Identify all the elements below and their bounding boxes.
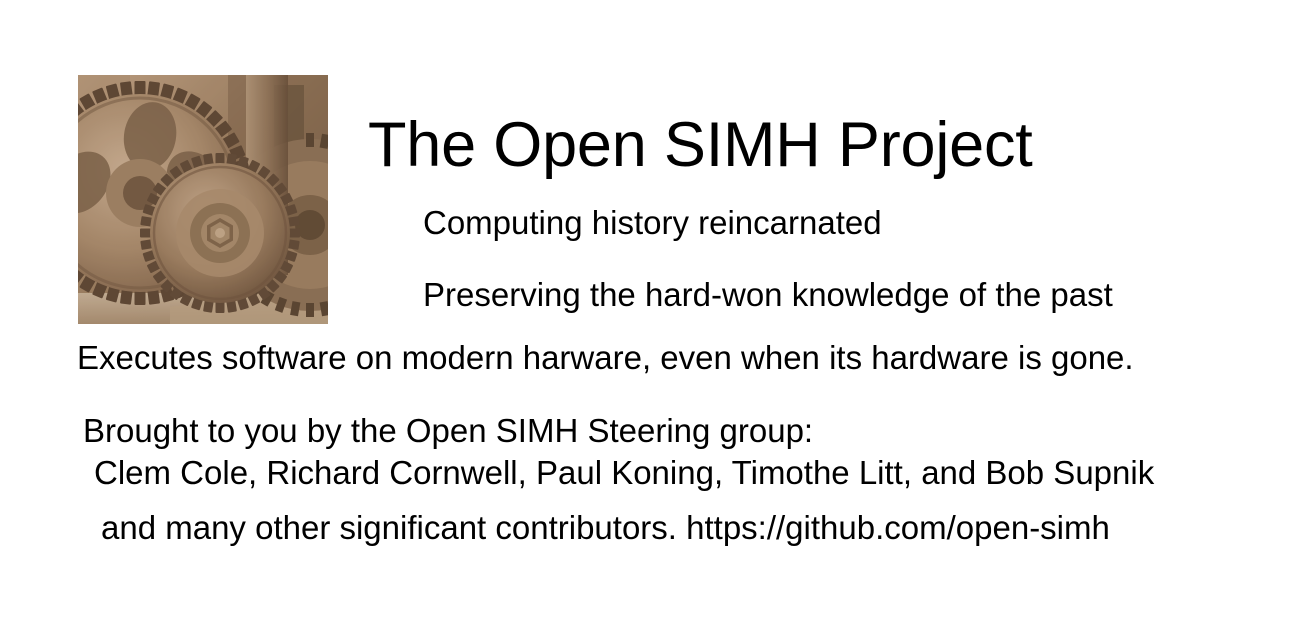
statement-executes-software: Executes software on modern harware, eve… [77, 338, 1134, 378]
presentation-slide: The Open SIMH Project Computing history … [0, 0, 1289, 640]
tagline-computing-history: Computing history reincarnated [423, 203, 882, 243]
page-title: The Open SIMH Project [368, 108, 1033, 182]
credits-intro: Brought to you by the Open SIMH Steering… [83, 411, 813, 451]
gear-photo [78, 75, 328, 324]
tagline-preserving-knowledge: Preserving the hard-won knowledge of the… [423, 275, 1113, 315]
gear-photo-artwork [78, 75, 328, 324]
credits-steering-group-names: Clem Cole, Richard Cornwell, Paul Koning… [94, 453, 1154, 493]
credits-contributors-and-url: and many other significant contributors.… [101, 508, 1110, 548]
